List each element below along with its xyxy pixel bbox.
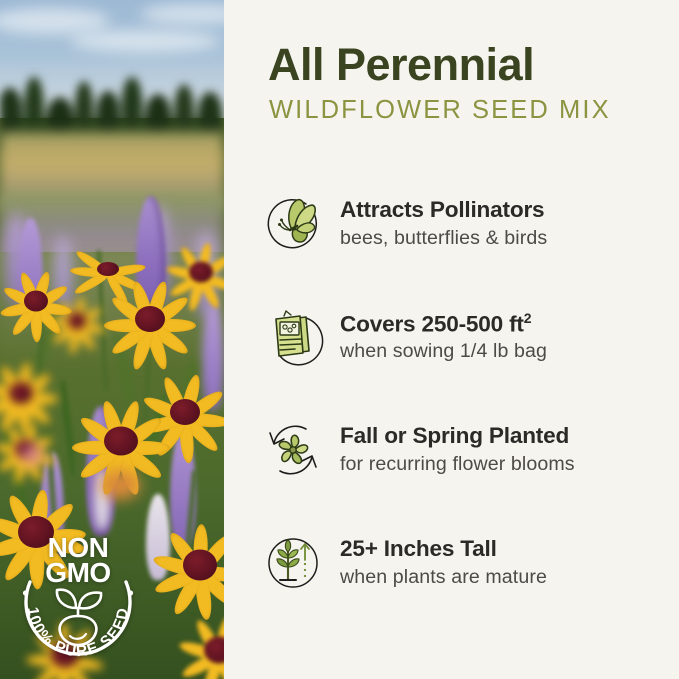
yellow-daisy-flower bbox=[178, 612, 224, 679]
yellow-daisy-flower bbox=[0, 268, 72, 334]
feature-subtext: bees, butterflies & birds bbox=[340, 227, 665, 251]
feature-subtext: for recurring flower blooms bbox=[340, 453, 665, 477]
yellow-daisy-flower bbox=[152, 520, 224, 610]
feature-text: Covers 250-500 ft2 when sowing 1/4 lb ba… bbox=[340, 310, 665, 365]
pink-accent-bloom bbox=[22, 446, 42, 464]
feature-heading-superscript: 2 bbox=[524, 310, 532, 326]
feature-heading: Fall or Spring Planted bbox=[340, 423, 665, 449]
page-subtitle: WILDFLOWER SEED MIX bbox=[269, 96, 659, 125]
info-panel: All Perennial WILDFLOWER SEED MIX bbox=[224, 0, 679, 679]
product-infographic: NON GMO 100% PURE SEED All Per bbox=[0, 0, 679, 679]
feature-heading-main: Covers 250-500 ft bbox=[340, 311, 524, 336]
plant-height-icon bbox=[262, 532, 324, 594]
feature-heading: Covers 250-500 ft2 bbox=[340, 310, 665, 338]
badge-line2: GMO bbox=[45, 557, 110, 588]
feature-heading: 25+ Inches Tall bbox=[340, 536, 665, 562]
yellow-daisy-flower bbox=[166, 240, 224, 304]
feature-row-coverage: Covers 250-500 ft2 when sowing 1/4 lb ba… bbox=[262, 299, 665, 375]
feature-heading: Attracts Pollinators bbox=[340, 197, 665, 223]
butterfly-icon bbox=[262, 193, 324, 255]
non-gmo-badge: NON GMO 100% PURE SEED bbox=[12, 524, 144, 667]
feature-row-plant-height: 25+ Inches Tall when plants are mature bbox=[262, 525, 665, 601]
feature-text: 25+ Inches Tall when plants are mature bbox=[340, 536, 665, 589]
wildflower-meadow-photo: NON GMO 100% PURE SEED bbox=[0, 0, 224, 679]
feature-subtext: when sowing 1/4 lb bag bbox=[340, 340, 665, 364]
feature-subtext: when plants are mature bbox=[340, 566, 665, 590]
title-block: All Perennial WILDFLOWER SEED MIX bbox=[268, 42, 659, 125]
sprouting-seed-icon bbox=[57, 590, 101, 645]
feature-text: Fall or Spring Planted for recurring flo… bbox=[340, 423, 665, 476]
feature-row-attracts-pollinators: Attracts Pollinators bees, butterflies &… bbox=[262, 186, 665, 262]
feature-row-planting-season: Fall or Spring Planted for recurring flo… bbox=[262, 412, 665, 488]
seed-packet-icon bbox=[262, 306, 324, 368]
feature-list: Attracts Pollinators bees, butterflies &… bbox=[262, 186, 665, 601]
page-title: All Perennial bbox=[268, 42, 659, 89]
seasonal-cycle-flower-icon bbox=[262, 419, 324, 481]
orange-accent-bloom bbox=[100, 470, 140, 500]
feature-text: Attracts Pollinators bees, butterflies &… bbox=[340, 197, 665, 250]
